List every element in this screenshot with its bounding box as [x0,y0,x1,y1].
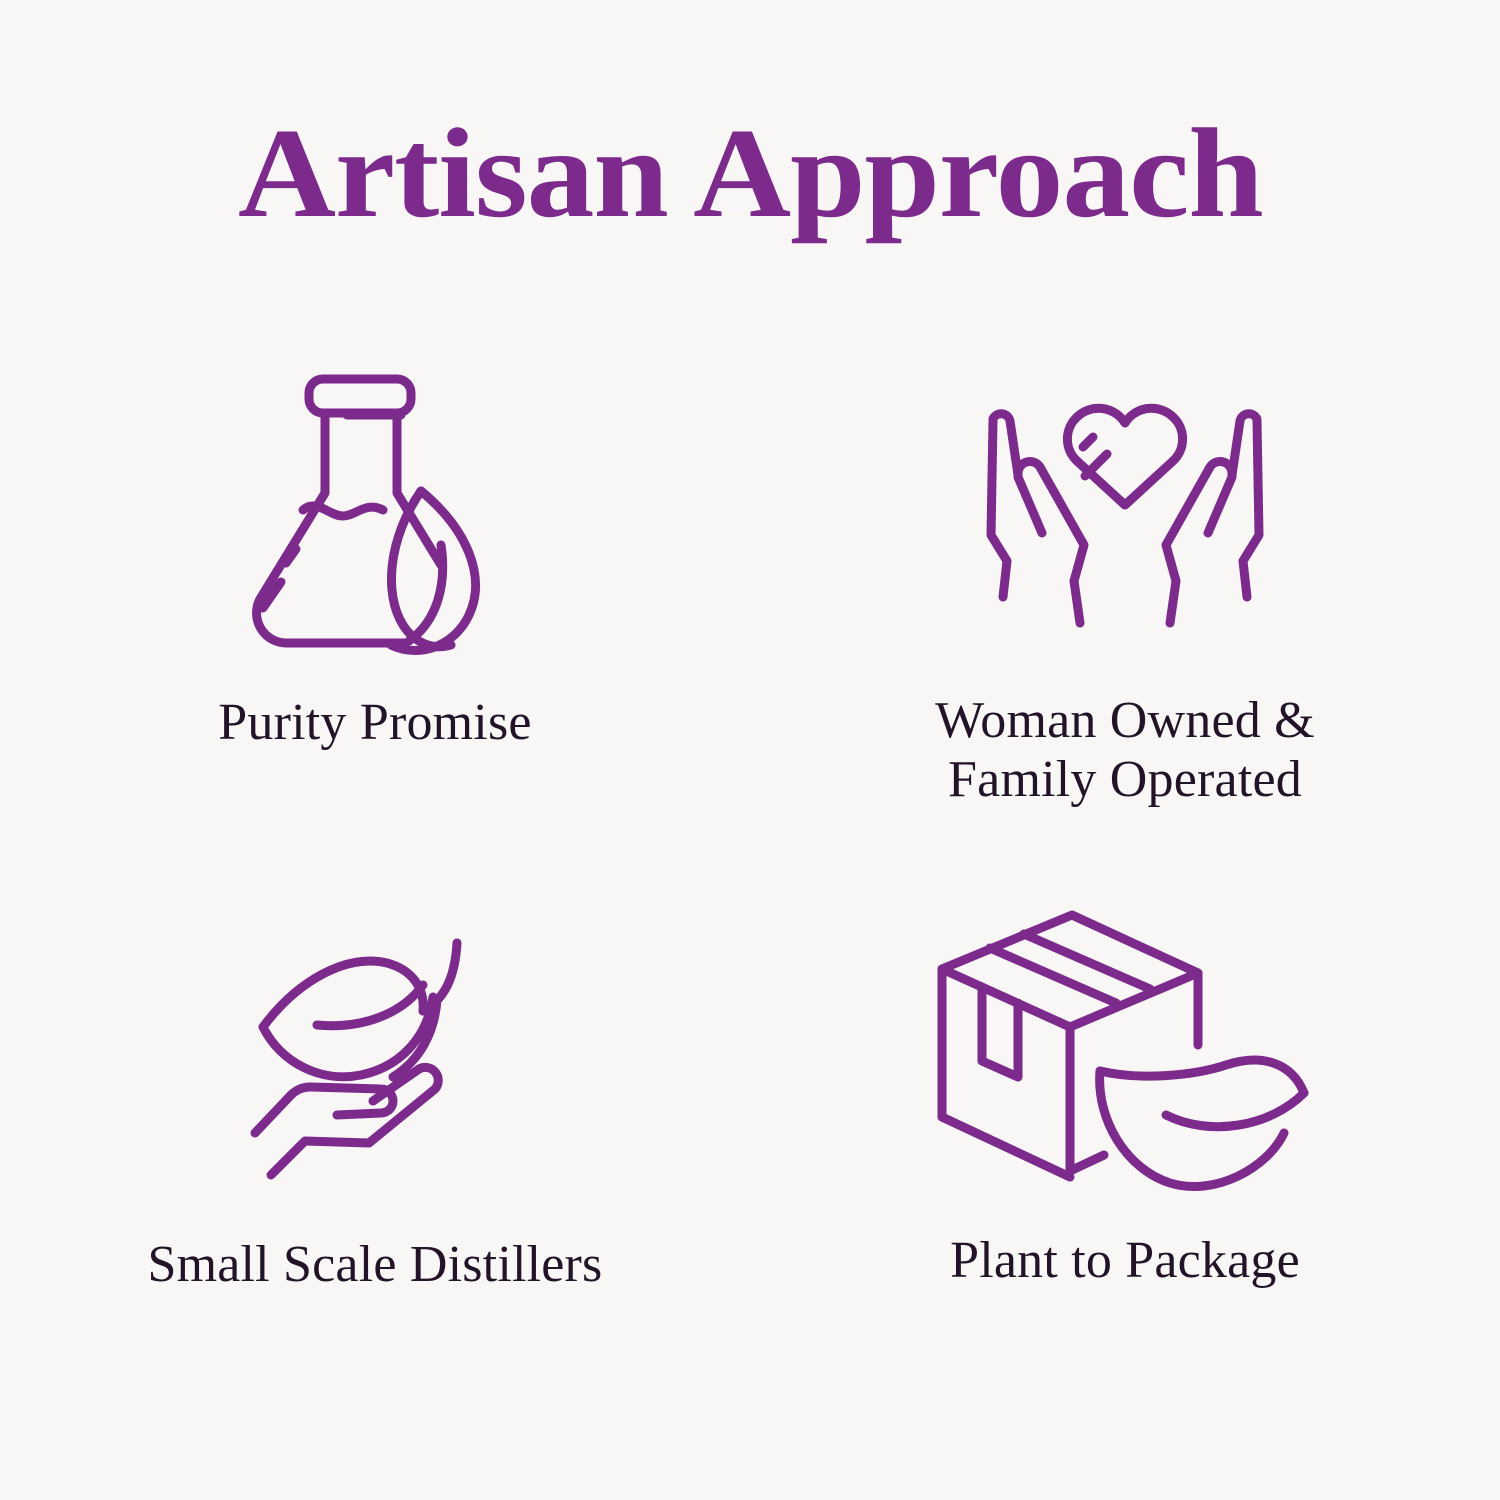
feature-plant-to-package: Plant to Package [750,875,1500,1405]
hands-holding-heart-icon [965,377,1285,639]
feature-label-plant-to-package: Plant to Package [950,1231,1300,1290]
flask-leaf-icon [241,363,509,663]
feature-label-small-scale-distillers: Small Scale Distillers [147,1235,602,1294]
feature-label-woman-owned: Woman Owned & Family Operated [935,691,1315,810]
box-leaf-icon [920,903,1330,1199]
feature-woman-owned: Woman Owned & Family Operated [750,345,1500,875]
hand-holding-leaf-icon [251,921,499,1183]
page-title: Artisan Approach [238,108,1263,239]
feature-label-purity-promise: Purity Promise [218,693,531,752]
artisan-approach-panel: Artisan Approach [0,0,1500,1500]
feature-purity-promise: Purity Promise [0,345,750,875]
feature-grid: Purity Promise [0,345,1500,1405]
feature-small-scale-distillers: Small Scale Distillers [0,875,750,1405]
page-title-container: Artisan Approach [0,108,1500,239]
